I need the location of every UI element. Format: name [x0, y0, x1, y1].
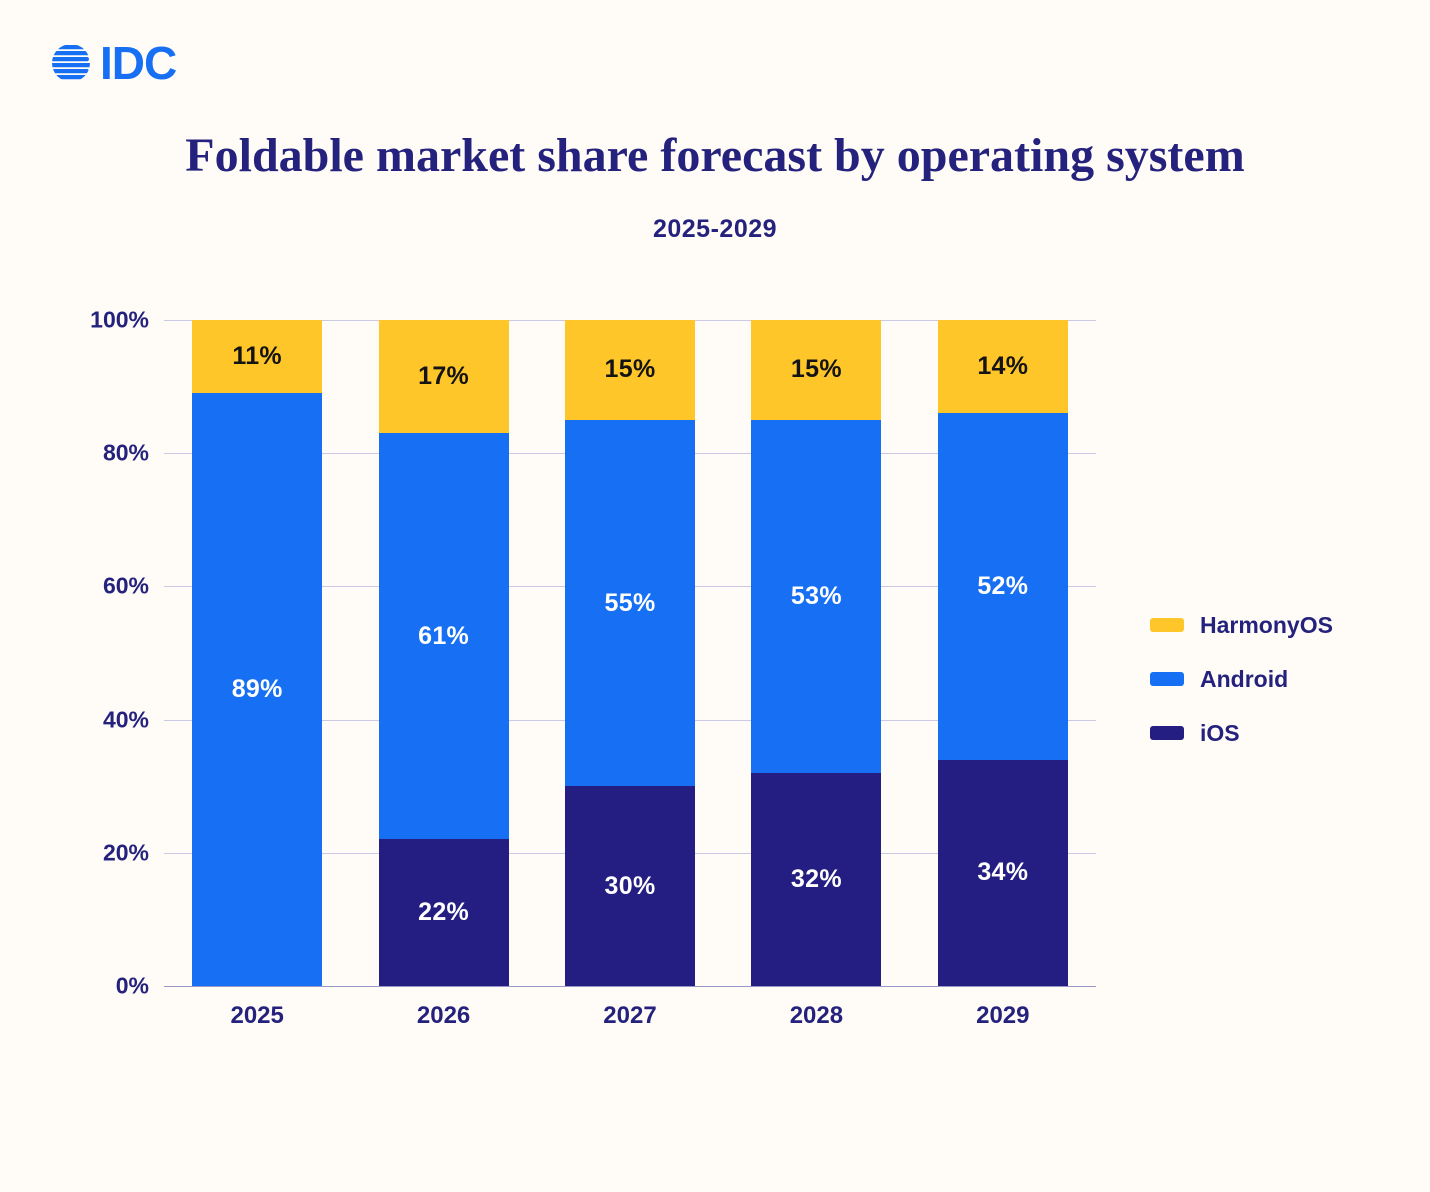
bar-segment-android-2025[interactable]: 89%	[192, 393, 322, 986]
legend-swatch-android	[1150, 672, 1184, 686]
y-axis-tick-label: 80%	[9, 440, 149, 467]
bar-value-label: 14%	[977, 352, 1028, 381]
bar-value-label: 89%	[232, 675, 283, 704]
bar-value-label: 17%	[418, 362, 469, 391]
y-axis-tick-label: 0%	[9, 973, 149, 1000]
bar-value-label: 61%	[418, 622, 469, 651]
bar-segment-android-2029[interactable]: 52%	[938, 413, 1068, 759]
bar-segment-ios-2026[interactable]: 22%	[379, 839, 509, 986]
x-axis-tick-label-2027: 2027	[530, 1002, 730, 1030]
bar-value-label: 15%	[605, 355, 656, 384]
bar-segment-harmonyos-2028[interactable]: 15%	[751, 320, 881, 420]
x-axis-tick-label-2028: 2028	[716, 1002, 916, 1030]
bar-2026[interactable]: 17%61%22%	[379, 320, 509, 986]
bar-2025[interactable]: 11%89%	[192, 320, 322, 986]
legend: HarmonyOSAndroidiOS	[1150, 598, 1333, 760]
chart-page: IDC Foldable market share forecast by op…	[0, 0, 1430, 1192]
y-axis-tick-label: 40%	[9, 706, 149, 733]
bar-segment-android-2028[interactable]: 53%	[751, 420, 881, 773]
bar-2028[interactable]: 15%53%32%	[751, 320, 881, 986]
bar-segment-android-2027[interactable]: 55%	[565, 420, 695, 786]
bar-value-label: 53%	[791, 582, 842, 611]
bar-segment-ios-2028[interactable]: 32%	[751, 773, 881, 986]
legend-item-ios[interactable]: iOS	[1150, 706, 1333, 760]
bar-segment-ios-2029[interactable]: 34%	[938, 760, 1068, 986]
legend-label: HarmonyOS	[1200, 612, 1333, 639]
chart-subtitle: 2025-2029	[0, 215, 1430, 244]
y-axis-tick-label: 100%	[9, 307, 149, 334]
x-axis-tick-label-2025: 2025	[157, 1002, 357, 1030]
bar-segment-ios-2027[interactable]: 30%	[565, 786, 695, 986]
bar-2029[interactable]: 14%52%34%	[938, 320, 1068, 986]
bar-segment-harmonyos-2026[interactable]: 17%	[379, 320, 509, 433]
plot-area: 11%89%17%61%22%15%55%30%15%53%32%14%52%3…	[164, 320, 1096, 986]
legend-label: iOS	[1200, 720, 1240, 747]
x-axis-tick-label-2029: 2029	[903, 1002, 1103, 1030]
y-axis-tick-label: 20%	[9, 839, 149, 866]
bar-value-label: 11%	[232, 342, 282, 371]
bar-segment-harmonyos-2029[interactable]: 14%	[938, 320, 1068, 413]
bar-segment-android-2026[interactable]: 61%	[379, 433, 509, 839]
bar-value-label: 52%	[977, 572, 1028, 601]
legend-label: Android	[1200, 666, 1288, 693]
chart-title: Foldable market share forecast by operat…	[0, 128, 1430, 183]
bar-value-label: 22%	[418, 898, 469, 927]
bar-segment-harmonyos-2025[interactable]: 11%	[192, 320, 322, 393]
bar-2027[interactable]: 15%55%30%	[565, 320, 695, 986]
globe-icon	[48, 38, 98, 88]
gridline-0%	[164, 986, 1096, 987]
idc-logo: IDC	[48, 38, 176, 88]
bar-value-label: 32%	[791, 865, 842, 894]
x-axis-tick-label-2026: 2026	[344, 1002, 544, 1030]
legend-item-harmonyos[interactable]: HarmonyOS	[1150, 598, 1333, 652]
bar-value-label: 15%	[791, 355, 842, 384]
legend-swatch-ios	[1150, 726, 1184, 740]
bar-value-label: 30%	[605, 872, 656, 901]
bar-value-label: 55%	[605, 589, 656, 618]
legend-item-android[interactable]: Android	[1150, 652, 1333, 706]
legend-swatch-harmonyos	[1150, 618, 1184, 632]
bar-value-label: 34%	[977, 858, 1028, 887]
y-axis-tick-label: 60%	[9, 573, 149, 600]
logo-wordmark: IDC	[100, 40, 176, 86]
bar-segment-harmonyos-2027[interactable]: 15%	[565, 320, 695, 420]
